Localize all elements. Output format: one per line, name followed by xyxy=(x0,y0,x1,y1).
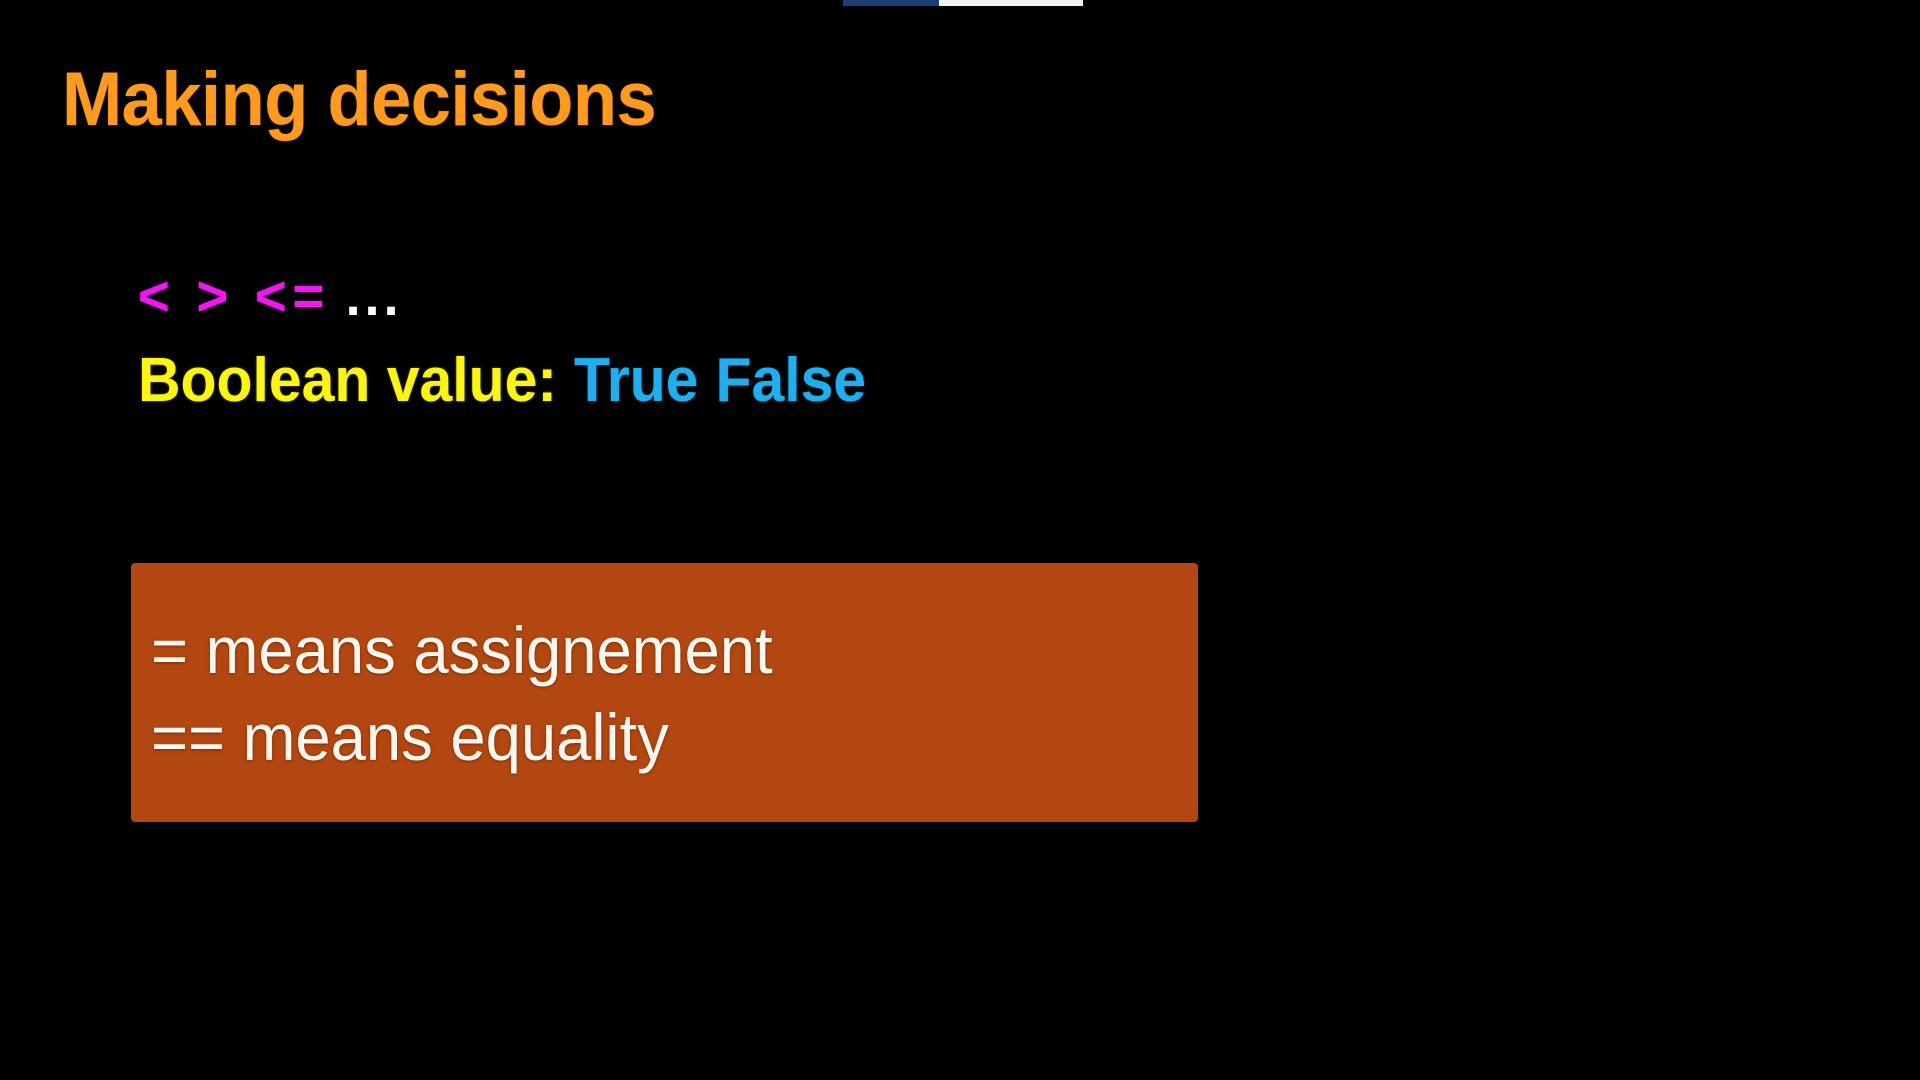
callout-line-equality: == means equality xyxy=(151,694,1156,781)
slide-body: < > <=... Boolean value:TrueFalse xyxy=(138,268,1238,412)
comparison-operators-line: < > <=... xyxy=(138,268,1205,324)
assignment-vs-equality-callout: = means assignement == means equality xyxy=(131,563,1198,822)
page-title: Making decisions xyxy=(62,62,656,138)
progress-buffer-segment xyxy=(939,0,1083,6)
comparison-operators-ellipsis: ... xyxy=(346,264,403,327)
boolean-value-true: True xyxy=(574,346,698,415)
video-progress-bar[interactable] xyxy=(843,0,1083,6)
callout-line-assignment: = means assignement xyxy=(151,607,1156,694)
slide-canvas: Making decisions < > <=... Boolean value… xyxy=(0,0,1920,1080)
boolean-value-line: Boolean value:TrueFalse xyxy=(138,350,1183,412)
comparison-operators-symbols: < > <= xyxy=(138,264,330,327)
progress-played-segment xyxy=(843,0,939,6)
boolean-value-label: Boolean value: xyxy=(138,346,557,415)
boolean-value-list: TrueFalse xyxy=(574,346,866,415)
boolean-value-false: False xyxy=(716,346,867,415)
